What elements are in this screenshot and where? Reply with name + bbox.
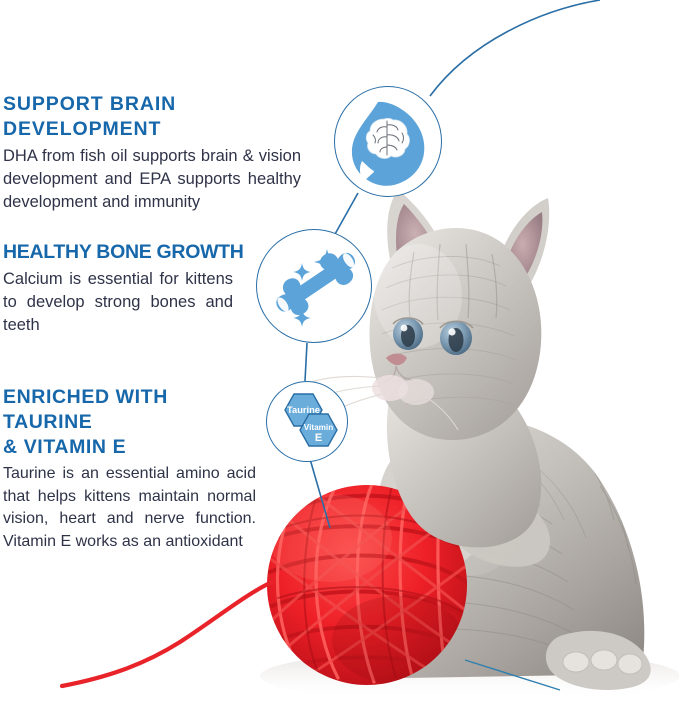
bone-sparkle-icon — [256, 229, 372, 343]
hexagon-vitamin-letter: E — [315, 432, 322, 444]
feature-block-bone: HEALTHY BONE GROWTH Calcium is essential… — [3, 240, 265, 338]
feature-title-taurine: ENRICHED WITH TAURINE & VITAMIN E — [3, 385, 261, 460]
hexagon-vitamin-e: Vitamin E — [300, 414, 337, 446]
feature-body-taurine: Taurine is an essential amino acid that … — [3, 463, 256, 553]
hexagon-vitamin-label: Vitamin — [304, 423, 333, 432]
feature-block-taurine: ENRICHED WITH TAURINE & VITAMIN E Taurin… — [3, 385, 261, 553]
cat-head-brain-icon — [334, 86, 442, 197]
feature-body-bone: Calcium is essential for kittens to deve… — [3, 268, 233, 338]
taurine-vitamin-hexagons-icon: Taurine Vitamin E — [266, 381, 348, 462]
feature-title-brain: SUPPORT BRAIN DEVELOPMENT — [3, 92, 333, 142]
feature-title-bone: HEALTHY BONE GROWTH — [3, 240, 265, 265]
feature-body-brain: DHA from fish oil supports brain & visio… — [3, 145, 301, 215]
infographic-canvas: SUPPORT BRAIN DEVELOPMENT DHA from fish … — [0, 0, 679, 701]
feature-block-brain: SUPPORT BRAIN DEVELOPMENT DHA from fish … — [3, 92, 333, 215]
